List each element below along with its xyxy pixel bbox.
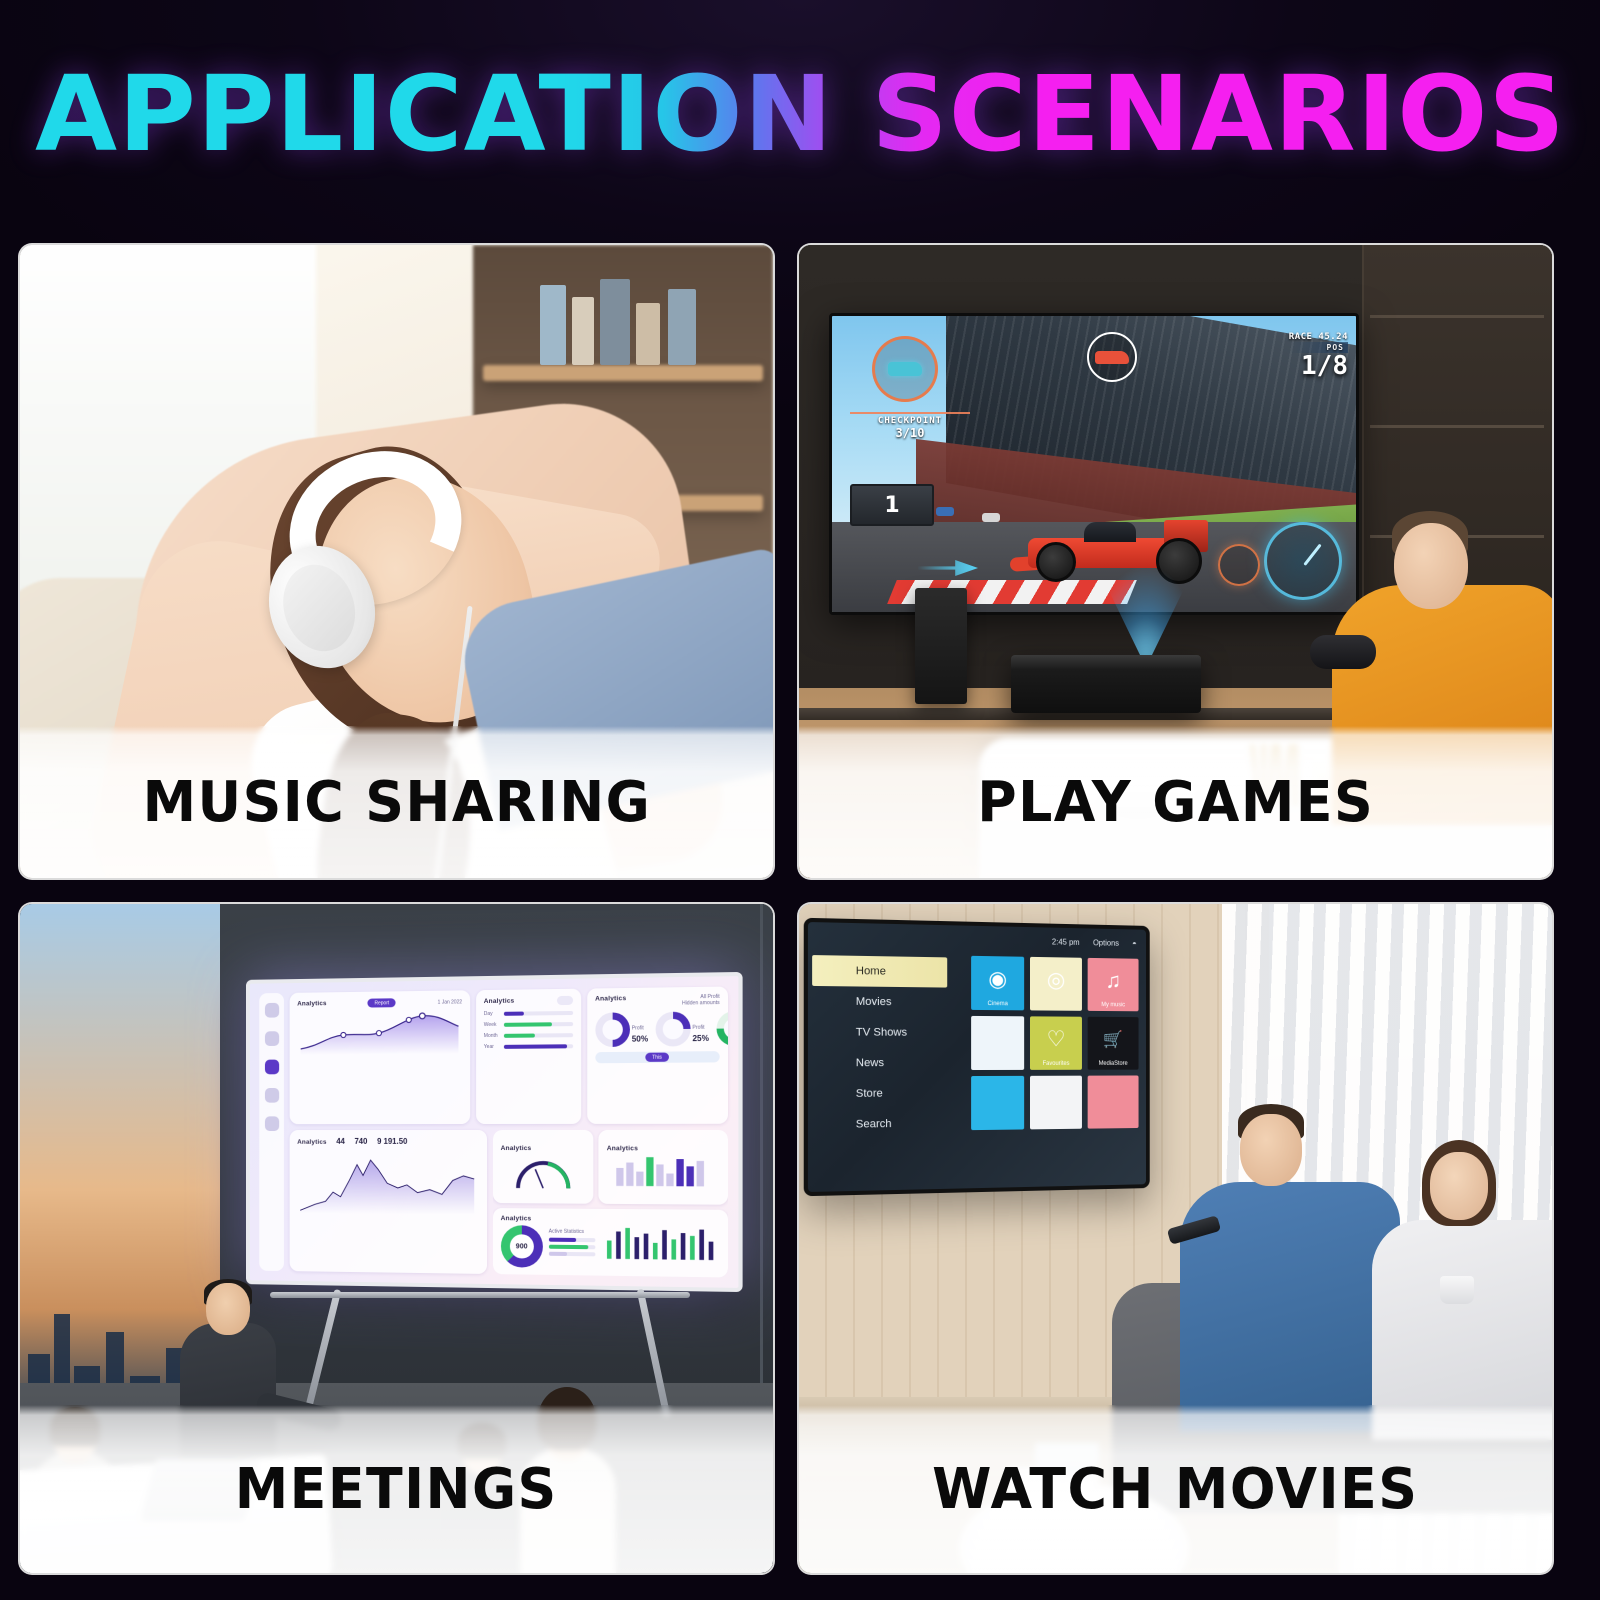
- trend-line-chart: [297, 1009, 462, 1056]
- tv-clock: 2:45 pm: [1052, 937, 1080, 946]
- tv-menu-item-search[interactable]: Search: [812, 1108, 947, 1140]
- scenario-grid: MUSIC SHARING: [18, 243, 1582, 1575]
- rpm-gauge: [1218, 544, 1260, 586]
- heart-icon: ♡: [1047, 1028, 1066, 1050]
- mini-bar-chart: [601, 1224, 719, 1262]
- market-area-chart: [297, 1146, 479, 1220]
- book: [636, 303, 660, 365]
- tv-menu-item-news[interactable]: News: [812, 1048, 947, 1079]
- range-label: Week: [484, 1022, 500, 1028]
- range-label: Day: [484, 1011, 500, 1017]
- tv-tile-my-music[interactable]: ♫ My music: [1088, 958, 1139, 1011]
- shelf-board: [483, 365, 763, 381]
- profit-donut: [595, 1012, 630, 1047]
- tv-menu-item-store[interactable]: Store: [812, 1078, 947, 1109]
- card-date: 1 Jan 2022: [438, 999, 462, 1005]
- book: [540, 285, 566, 365]
- tv-tile-photos[interactable]: ◎: [1030, 957, 1082, 1011]
- dashboard-main: Analytics Report 1 Jan 2022: [290, 987, 728, 1278]
- car-icon: [888, 362, 922, 376]
- gauge-label: Profit: [692, 1024, 704, 1030]
- music-note-icon: ♫: [1105, 970, 1121, 992]
- statistics-title: Active Statistics: [549, 1228, 595, 1235]
- card-pill[interactable]: [557, 996, 573, 1005]
- position-value: 1/8: [1289, 353, 1348, 379]
- tile-label: Cinema: [988, 1001, 1008, 1007]
- semicircle-gauge: [501, 1155, 586, 1192]
- gauge-value: 25%: [692, 1033, 709, 1042]
- tv-menu-item-movies[interactable]: Movies: [812, 986, 947, 1018]
- speedometer-gauge: [1264, 522, 1342, 600]
- display-stand-bar: [270, 1292, 690, 1298]
- tv-options-button[interactable]: Options: [1093, 938, 1119, 947]
- tile-label: My music: [1101, 1002, 1125, 1008]
- bar-chart: [607, 1155, 720, 1188]
- analytics-dashboard: Analytics Report 1 Jan 2022: [259, 987, 728, 1278]
- card-pill[interactable]: Report: [368, 998, 396, 1007]
- presentation-display[interactable]: Analytics Report 1 Jan 2022: [246, 972, 743, 1292]
- page-title-container: APPLICATION SCENARIOS: [0, 58, 1600, 170]
- tv-menu-list[interactable]: Home Movies TV Shows News Store Search: [812, 955, 947, 1140]
- dashboard-row-top: Analytics Report 1 Jan 2022: [290, 987, 728, 1125]
- game-opponent-car: [982, 513, 1000, 522]
- man-head: [1240, 1114, 1302, 1186]
- tv-tile-favourites[interactable]: ♡ Favourites: [1030, 1016, 1082, 1070]
- profit-donut: [716, 1011, 728, 1046]
- card-trend-chart: Analytics Report 1 Jan 2022: [290, 990, 470, 1124]
- caption-band-meetings: MEETINGS: [20, 1405, 773, 1573]
- range-label: Month: [484, 1033, 500, 1039]
- panel-watch-movies[interactable]: 2:45 pm Options ◓ Home Movies TV Shows N…: [797, 902, 1554, 1575]
- application-scenarios-poster: APPLICATION SCENARIOS: [0, 0, 1600, 1600]
- cabinet-shelf: [1370, 315, 1544, 318]
- rival-car-icon: [1095, 351, 1129, 364]
- tv-home-menu: 2:45 pm Options ◓ Home Movies TV Shows N…: [808, 922, 1146, 1192]
- card-market-chart: Analytics 44 740 9 191.50: [290, 1130, 487, 1274]
- hud-race-info: RACE 45.24 POS 1/8: [1289, 332, 1348, 379]
- wifi-icon: ◓: [1132, 939, 1137, 948]
- speaker: [915, 588, 967, 704]
- tv-status-bar: 2:45 pm Options ◓: [808, 928, 1146, 951]
- shopping-cart-icon: 🛒: [1103, 1031, 1123, 1048]
- dashboard-sidebar[interactable]: [259, 993, 284, 1271]
- metric-value: 9 191.50: [377, 1137, 407, 1146]
- page-title: APPLICATION SCENARIOS: [35, 58, 1566, 170]
- tv-tile-blank-2[interactable]: [971, 1076, 1024, 1130]
- tv-tile-mediastore[interactable]: 🛒 MediaStore: [1088, 1017, 1139, 1070]
- checkpoint-label: CHECKPOINT: [850, 412, 970, 426]
- caption-meetings: MEETINGS: [235, 1457, 558, 1522]
- gauge-value: 50%: [632, 1034, 648, 1043]
- hud-car-indicator: [872, 336, 938, 402]
- game-controller: [1310, 635, 1376, 669]
- settings-icon[interactable]: [264, 1116, 278, 1131]
- card-title: Analytics: [297, 1139, 326, 1146]
- tv-menu-item-home[interactable]: Home: [812, 955, 947, 988]
- dashboard-subgrid: Analytics Analy: [493, 1130, 728, 1278]
- card-bar-chart: Analytics: [599, 1130, 728, 1205]
- metric-value: 740: [354, 1137, 367, 1146]
- game-opponent-car: [936, 507, 954, 516]
- hud-checkpoint: CHECKPOINT 3/10: [850, 412, 970, 440]
- tv-tile-blank-3[interactable]: [1030, 1076, 1082, 1130]
- card-active-statistics: Analytics 900 Active Statistics: [493, 1208, 728, 1277]
- metric-value: 44: [336, 1137, 345, 1146]
- profit-donut: [655, 1012, 690, 1047]
- projection-screen: CHECKPOINT 3/10 RACE 45.24 POS 1/8 1: [829, 313, 1359, 615]
- tv-tile-blank-4[interactable]: [1088, 1075, 1139, 1128]
- car-cockpit: [1084, 522, 1136, 542]
- panel-music-sharing[interactable]: MUSIC SHARING: [18, 243, 775, 880]
- tile-label: Favourites: [1043, 1061, 1070, 1067]
- woman-head: [1430, 1152, 1488, 1220]
- donut-center-value: 900: [510, 1234, 534, 1258]
- coffee-mug: [1440, 1276, 1474, 1304]
- tile-label: MediaStore: [1099, 1061, 1128, 1067]
- gamer-head: [1394, 523, 1468, 609]
- book: [572, 297, 594, 365]
- card-speed-gauge: Analytics: [493, 1130, 594, 1204]
- card-title: Analytics: [484, 998, 515, 1005]
- chart-icon[interactable]: [264, 1060, 278, 1075]
- panel-meetings[interactable]: Analytics Report 1 Jan 2022: [18, 902, 775, 1575]
- panel-play-games[interactable]: CHECKPOINT 3/10 RACE 45.24 POS 1/8 1: [797, 243, 1554, 880]
- position-label: POS: [1289, 342, 1348, 353]
- tv-menu-item-tv-shows[interactable]: TV Shows: [812, 1017, 947, 1048]
- checkpoint-value: 3/10: [850, 426, 970, 440]
- presenter-head: [206, 1283, 250, 1335]
- hidden-amounts-label: Hidden amounts: [682, 1000, 720, 1007]
- book: [600, 279, 630, 365]
- book: [668, 289, 696, 365]
- caption-watch-movies: WATCH MOVIES: [932, 1457, 1418, 1522]
- scoreboard: 1: [850, 484, 934, 526]
- laser-projector: [1011, 655, 1201, 713]
- card-title: Analytics: [501, 1215, 543, 1222]
- tv-tile-cinema[interactable]: ◉ Cinema: [971, 956, 1024, 1011]
- statistics-donut: 900: [501, 1225, 543, 1268]
- card-title: Analytics: [501, 1145, 532, 1152]
- card-title: Analytics: [607, 1145, 638, 1152]
- caption-band-music-sharing: MUSIC SHARING: [20, 726, 773, 878]
- tv-tile-grid[interactable]: ◉ Cinema ◎ ♫ My music: [971, 956, 1138, 1130]
- caption-band-play-games: PLAY GAMES: [799, 726, 1552, 878]
- hud-rival-indicator: [1087, 332, 1137, 382]
- caption-band-watch-movies: WATCH MOVIES: [799, 1405, 1552, 1573]
- card-profit-gauges: Analytics All Profit Hidden amounts: [587, 987, 728, 1124]
- range-chip[interactable]: This: [645, 1053, 669, 1062]
- caption-music-sharing: MUSIC SHARING: [142, 770, 651, 835]
- smart-tv[interactable]: 2:45 pm Options ◓ Home Movies TV Shows N…: [804, 918, 1150, 1196]
- dashboard-row-bottom: Analytics 44 740 9 191.50: [290, 1130, 728, 1278]
- range-label: Year: [484, 1044, 500, 1050]
- film-reel-icon: ◉: [988, 968, 1007, 990]
- card-title: Analytics: [595, 995, 626, 1008]
- cabinet-shelf: [1370, 425, 1544, 428]
- card-range-bars: Analytics Day: [476, 989, 581, 1124]
- gauge-label: Profit: [632, 1025, 644, 1031]
- race-timer: RACE 45.24: [1289, 332, 1348, 342]
- caption-play-games: PLAY GAMES: [977, 770, 1374, 835]
- tv-tile-blank-1[interactable]: [971, 1016, 1024, 1070]
- camera-icon: ◎: [1047, 969, 1065, 991]
- avatar-icon[interactable]: [264, 1003, 278, 1018]
- users-icon[interactable]: [264, 1088, 278, 1103]
- home-icon[interactable]: [264, 1031, 278, 1046]
- card-title: Analytics: [297, 1000, 326, 1007]
- car-tire: [1036, 542, 1076, 582]
